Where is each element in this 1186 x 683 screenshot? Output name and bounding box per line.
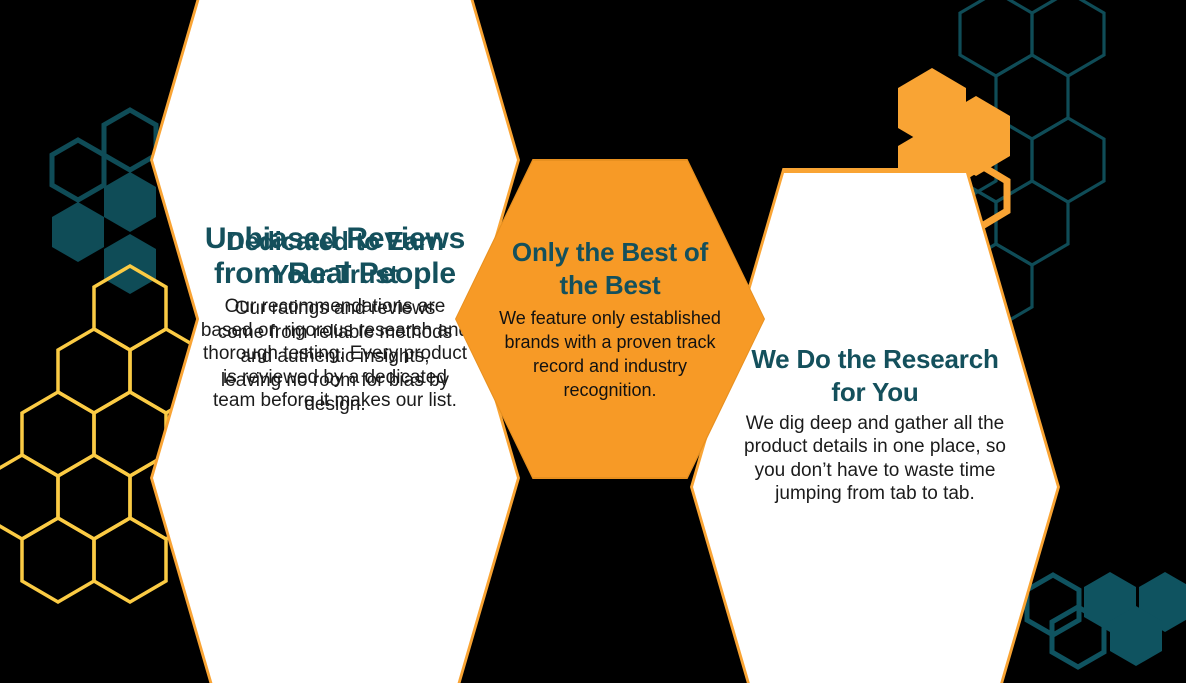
yellow-outline-hex (22, 518, 94, 602)
teal-outline-hex (1032, 0, 1104, 76)
card-body: Our recommendations are based on rigorou… (200, 295, 470, 413)
teal-outline-hex (104, 110, 156, 170)
yellow-outline-hex (22, 392, 94, 476)
yellow-outline-hex (58, 455, 130, 539)
teal-filled-hex (52, 202, 104, 262)
infographic-canvas: Unbiased Reviews from Real People Our ra… (0, 0, 1186, 683)
teal-filled-hex (1110, 606, 1162, 666)
orange-filled-hex (942, 96, 1010, 176)
teal-hexagon-cluster-top-left (52, 110, 156, 294)
card-content: Dedicated to Earn Your Trust Our recomme… (202, 225, 468, 413)
teal-filled-hex (104, 172, 156, 232)
card-body: We dig deep and gather all the product d… (742, 412, 1007, 506)
teal-outline-hex (996, 55, 1068, 139)
card-only-the-best[interactable]: Only the Best of the Best We feature onl… (455, 159, 765, 479)
orange-filled-hex (898, 68, 966, 148)
card-content: Only the Best of the Best We feature onl… (498, 236, 721, 402)
yellow-outline-hex (58, 329, 130, 413)
card-title: Dedicated to Earn Your Trust (202, 225, 468, 291)
card-body: We feature only established brands with … (490, 306, 730, 402)
teal-filled-hex (104, 234, 156, 294)
teal-outline-hex (960, 0, 1032, 76)
card-title: Only the Best of the Best (498, 236, 721, 302)
card-title: We Do the Research for You (742, 343, 1008, 409)
teal-filled-hex (1084, 572, 1136, 632)
card-content: We Do the Research for You We dig deep a… (742, 343, 1008, 506)
teal-filled-hex (1139, 572, 1186, 632)
teal-outline-hex (52, 140, 104, 200)
yellow-outline-hex (0, 455, 58, 539)
